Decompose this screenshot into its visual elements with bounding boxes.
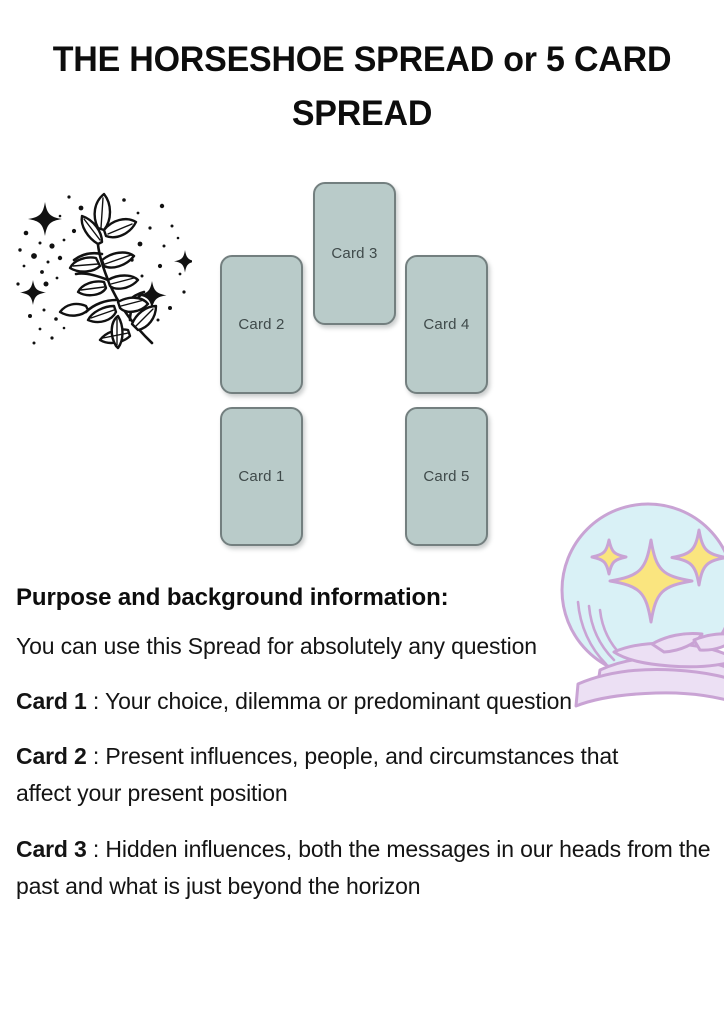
- page-title: THE HORSESHOE SPREAD or 5 CARD SPREAD: [26, 33, 697, 142]
- spread-card-5-label: Card 5: [423, 468, 469, 485]
- card-1-reference: Card 1: [16, 688, 87, 714]
- intro-paragraph: You can use this Spread for absolutely a…: [16, 628, 596, 665]
- card-1-description: Card 1 : Your choice, dilemma or predomi…: [16, 683, 656, 720]
- card-2-reference: Card 2: [16, 743, 87, 769]
- card-3-text: Hidden influences, both the messages in …: [16, 836, 710, 899]
- content-body: Purpose and background information: You …: [16, 583, 708, 905]
- card-2-separator: :: [87, 743, 106, 769]
- spread-card-5[interactable]: Card 5: [405, 407, 488, 546]
- card-3-separator: :: [87, 836, 106, 862]
- spread-card-4-label: Card 4: [423, 316, 469, 333]
- spread-card-3-label: Card 3: [331, 245, 377, 262]
- card-3-reference: Card 3: [16, 836, 87, 862]
- spread-card-3[interactable]: Card 3: [313, 182, 396, 325]
- card-2-description: Card 2 : Present influences, people, and…: [16, 738, 676, 813]
- card-1-separator: :: [87, 688, 105, 714]
- spread-diagram: Card 3 Card 2 Card 4 Card 1 Card 5: [0, 170, 724, 560]
- card-1-text: Your choice, dilemma or predominant ques…: [105, 688, 572, 714]
- card-3-description: Card 3 : Hidden influences, both the mes…: [16, 831, 716, 906]
- card-2-text: Present influences, people, and circumst…: [16, 743, 618, 806]
- spread-card-4[interactable]: Card 4: [405, 255, 488, 394]
- spread-card-1-label: Card 1: [238, 468, 284, 485]
- purpose-heading: Purpose and background information:: [16, 583, 708, 614]
- spread-card-2-label: Card 2: [238, 316, 284, 333]
- spread-card-1[interactable]: Card 1: [220, 407, 303, 546]
- spread-card-2[interactable]: Card 2: [220, 255, 303, 394]
- intro-text: You can use this Spread for absolutely a…: [16, 633, 537, 659]
